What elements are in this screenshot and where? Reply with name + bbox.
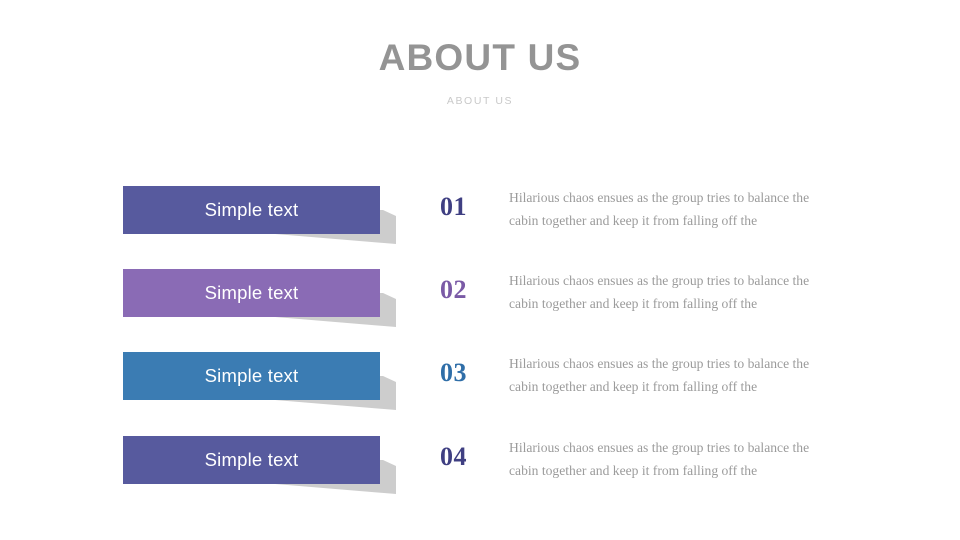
step-number-03: 03: [440, 358, 496, 388]
content-row-01: Simple text 01 Hilarious chaos ensues as…: [0, 186, 960, 270]
step-description-02: Hilarious chaos ensues as the group trie…: [509, 269, 839, 315]
step-description-04: Hilarious chaos ensues as the group trie…: [509, 436, 839, 482]
step-number-01: 01: [440, 192, 496, 222]
step-number-02: 02: [440, 275, 496, 305]
bar-label: Simple text: [205, 449, 299, 471]
content-row-03: Simple text 03 Hilarious chaos ensues as…: [0, 352, 960, 436]
content-row-04: Simple text 04 Hilarious chaos ensues as…: [0, 436, 960, 520]
bar-button-03[interactable]: Simple text: [123, 352, 380, 400]
step-number-04: 04: [440, 442, 496, 472]
bar-button-04[interactable]: Simple text: [123, 436, 380, 484]
bar-label: Simple text: [205, 282, 299, 304]
bar-label: Simple text: [205, 365, 299, 387]
bar-button-02[interactable]: Simple text: [123, 269, 380, 317]
step-description-01: Hilarious chaos ensues as the group trie…: [509, 186, 839, 232]
content-row-02: Simple text 02 Hilarious chaos ensues as…: [0, 269, 960, 353]
content-rows: Simple text 01 Hilarious chaos ensues as…: [0, 0, 960, 540]
bar-button-01[interactable]: Simple text: [123, 186, 380, 234]
slide-canvas: ABOUT US ABOUT US Simple text 01 Hilario…: [0, 0, 960, 540]
bar-label: Simple text: [205, 199, 299, 221]
step-description-03: Hilarious chaos ensues as the group trie…: [509, 352, 839, 398]
